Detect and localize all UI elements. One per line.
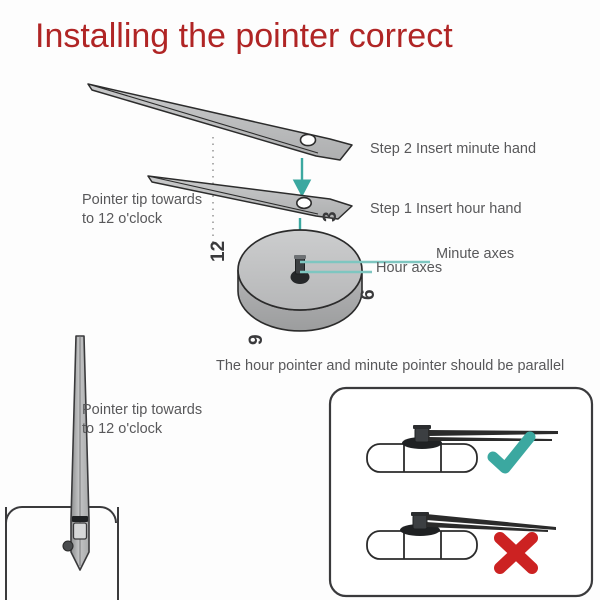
hand-pivot-bolt [63,541,73,551]
diagram-canvas: Installing the pointer correct Step 2 In… [0,0,600,600]
hour-hand-hole [297,198,311,209]
step-1-label: Step 1 Insert hour hand [370,201,522,217]
minute-axes-label: Minute axes [436,246,514,262]
minute-hand-inner-edge [88,84,318,153]
hand-mount-slot [74,523,87,539]
spindle-cap [294,255,306,259]
clock-numeral-9: 9 [246,334,267,345]
pointer-tip-note-top-line1: Pointer tip towards [82,192,202,208]
clock-numeral-3: 3 [320,211,341,222]
minute-hand-hole [301,134,316,145]
housing-side-edges [6,507,118,600]
pointer-tip-note-bottom-line2: to 12 o'clock [82,421,163,437]
clock-numeral-12: 12 [208,241,229,262]
hour-axes-label: Hour axes [376,260,442,276]
correct-spindle-shaft [415,428,429,442]
minute-hand-illustration [88,84,352,160]
pointer-tip-note-bottom-line1: Pointer tip towards [82,402,202,418]
pointer-tip-note-top-line2: to 12 o'clock [82,211,163,227]
step-2-label: Step 2 Insert minute hand [370,141,536,157]
housing-top-outline [6,507,116,523]
comparison-panel [330,388,592,596]
correct-spindle-cap [413,425,431,429]
instruction-diagram-page: Installing the pointer correct Step 2 In… [0,0,600,600]
hand-collar [72,516,88,522]
vertical-pointer-illustration [6,336,118,600]
comparison-panel-border [330,388,592,596]
incorrect-spindle-shaft [413,515,427,529]
clock-numeral-6: 6 [358,289,379,300]
page-title: Installing the pointer correct [35,17,453,55]
parallel-note: The hour pointer and minute pointer shou… [216,358,564,374]
